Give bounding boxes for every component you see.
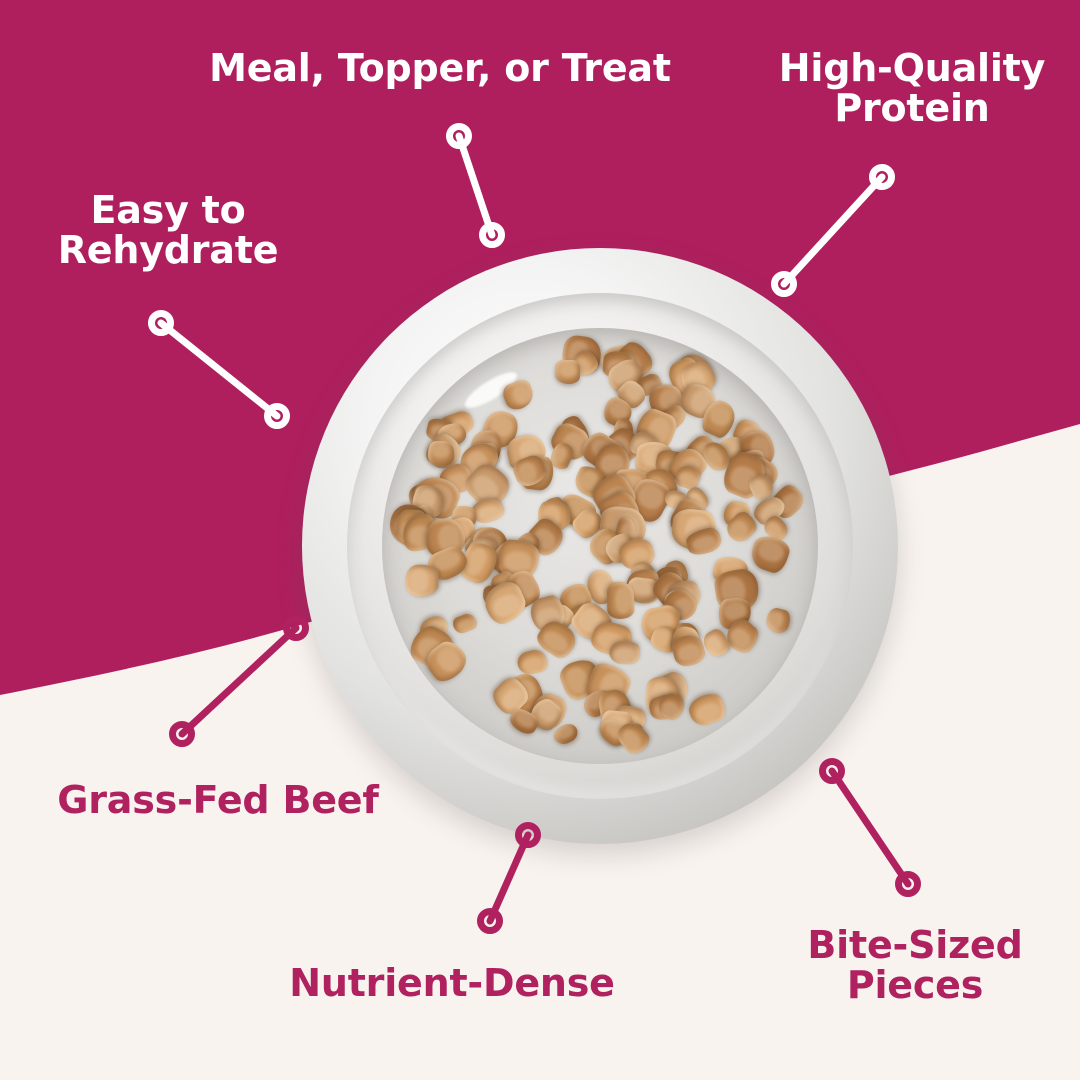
kibble-piece <box>405 565 439 597</box>
kibble-piece <box>555 360 580 384</box>
connector-line-easy-to-rehydrate <box>161 323 277 416</box>
connector-line-high-quality-protein <box>784 177 882 284</box>
connector-line-nutrient-dense <box>490 835 528 921</box>
callout-label-high-quality-protein: High-Quality Protein <box>762 48 1062 129</box>
connector-line-grass-fed-beef <box>182 628 296 734</box>
kibble-piece <box>428 440 455 466</box>
connector-line-bite-sized-pieces <box>832 771 908 884</box>
infographic-canvas: Meal, Topper, or Treat High-Quality Prot… <box>0 0 1080 1080</box>
callout-label-easy-to-rehydrate: Easy to Rehydrate <box>28 190 308 271</box>
callout-label-nutrient-dense: Nutrient-Dense <box>252 963 652 1003</box>
callout-label-grass-fed-beef: Grass-Fed Beef <box>22 780 414 820</box>
kibble-piece <box>607 581 635 619</box>
kibble-piece <box>609 641 640 665</box>
callout-label-meal-topper-treat: Meal, Topper, or Treat <box>202 48 678 88</box>
callout-label-bite-sized-pieces: Bite-Sized Pieces <box>790 925 1040 1006</box>
connector-line-meal-topper-treat <box>459 136 492 235</box>
